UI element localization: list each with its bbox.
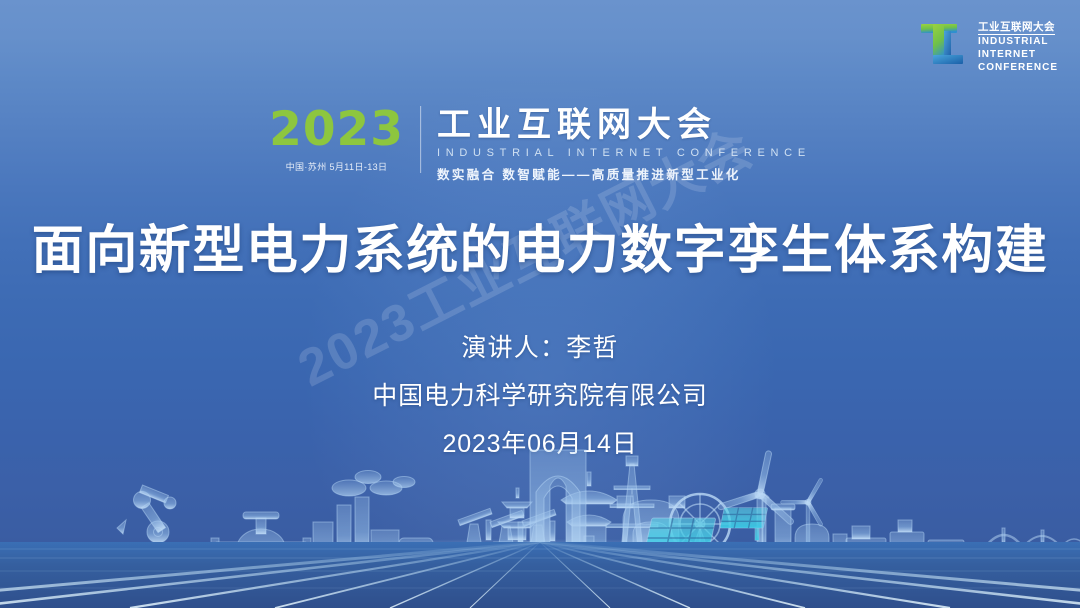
conference-title-block: 工业互联网大会 INDUSTRIAL INTERNET CONFERENCE 数… [437, 106, 811, 183]
perspective-grid-floor [0, 542, 1080, 608]
venue-date-label: 中国·苏州 5月11日-13日 [269, 160, 404, 173]
conference-title-cn: 工业互联网大会 [437, 108, 811, 142]
slide-main-title: 面向新型电力系统的电力数字孪生体系构建 [0, 222, 1080, 280]
brand-name-en-line3: CONFERENCE [978, 63, 1058, 73]
presentation-slide: 工业互联网大会 INDUSTRIAL INTERNET CONFERENCE 2… [0, 0, 1080, 608]
year-block: 2023 中国·苏州 5月11日-13日 [269, 106, 421, 173]
conference-title-en: INDUSTRIAL INTERNET CONFERENCE [437, 147, 811, 159]
conference-brand-logo: 工业互联网大会 INDUSTRIAL INTERNET CONFERENCE [917, 18, 1058, 73]
brand-name-en-line1: INDUSTRIAL [978, 37, 1058, 47]
year-label: 2023 [269, 106, 404, 153]
presenter-name: 演讲人：李哲 [0, 328, 1080, 364]
conference-slogan: 数实融合 数智赋能——高质量推进新型工业化 [437, 164, 811, 183]
conference-header-lockup: 2023 中国·苏州 5月11日-13日 工业互联网大会 INDUSTRIAL … [269, 106, 811, 183]
brand-name-cn: 工业互联网大会 [978, 22, 1055, 35]
presenter-organization: 中国电力科学研究院有限公司 [0, 376, 1080, 412]
conference-t-logo-icon [917, 19, 969, 71]
brand-text-block: 工业互联网大会 INDUSTRIAL INTERNET CONFERENCE [978, 18, 1058, 73]
presenter-info-block: 演讲人：李哲 中国电力科学研究院有限公司 2023年06月14日 [0, 328, 1080, 460]
brand-name-en-line2: INTERNET [978, 50, 1058, 60]
